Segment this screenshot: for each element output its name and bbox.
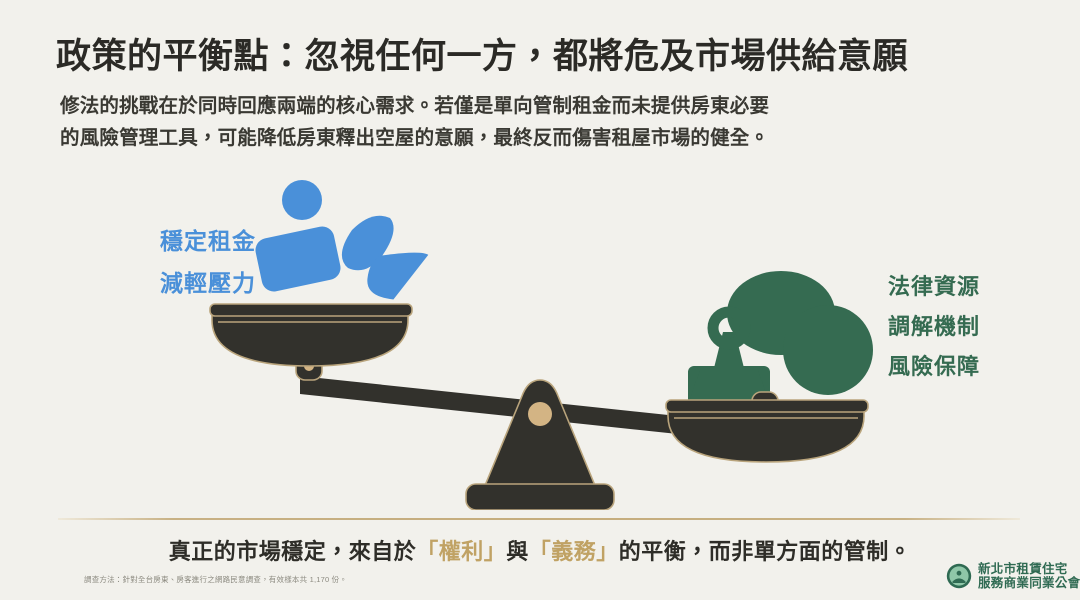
tenant-label-group: 穩定租金 減輕壓力 xyxy=(126,220,256,304)
caption-part-3: 的平衡，而非單方面的管制。 xyxy=(619,539,912,564)
caption-part-2: 與 xyxy=(506,539,529,564)
caption-highlight-rights: 「權利」 xyxy=(416,539,506,564)
page-subtitle: 修法的挑戰在於同時回應兩端的核心需求。若僅是單向管制租金而未提供房東必要 的風險… xyxy=(60,90,1015,154)
landlord-label-line-3: 風險保障 xyxy=(790,347,980,387)
landlord-label-group: 法律資源 調解機制 風險保障 xyxy=(790,267,980,387)
tenant-blue-shapes xyxy=(253,180,428,303)
tenant-label-line-2: 減輕壓力 xyxy=(126,262,256,304)
slide-root: 政策的平衡點：忽視任何一方，都將危及市場供給意願 修法的挑戰在於同時回應兩端的核… xyxy=(0,0,1080,600)
survey-footnote: 調查方法：針對全台房東、房客進行之網路民意調查，有效樣本共 1,170 份。 xyxy=(84,574,347,585)
landlord-label-line-2: 調解機制 xyxy=(790,307,980,347)
association-seal-icon xyxy=(946,563,972,589)
organization-logo: 新北市租賃住宅 服務商業同業公會 xyxy=(946,562,1080,590)
subtitle-line-1: 修法的挑戰在於同時回應兩端的核心需求。若僅是單向管制租金而未提供房東必要 xyxy=(60,90,1015,122)
scale-base xyxy=(466,484,614,510)
footer-caption: 真正的市場穩定，來自於「權利」與「義務」的平衡，而非單方面的管制。 xyxy=(0,534,1080,566)
subtitle-line-2: 的風險管理工具，可能降低房東釋出空屋的意願，最終反而傷害租屋市場的健全。 xyxy=(60,122,1015,154)
caption-highlight-duties: 「義務」 xyxy=(529,539,619,564)
organization-name: 新北市租賃住宅 服務商業同業公會 xyxy=(978,562,1080,590)
footer-divider xyxy=(58,518,1020,520)
tenant-label-line-1: 穩定租金 xyxy=(126,220,256,262)
caption-part-1: 真正的市場穩定，來自於 xyxy=(169,539,417,564)
left-pan xyxy=(210,304,412,380)
organization-name-line-1: 新北市租賃住宅 xyxy=(978,562,1080,576)
landlord-label-line-1: 法律資源 xyxy=(790,267,980,307)
organization-name-line-2: 服務商業同業公會 xyxy=(978,576,1080,590)
right-pan xyxy=(666,392,868,462)
scale-fulcrum xyxy=(484,380,596,488)
page-title: 政策的平衡點：忽視任何一方，都將危及市場供給意願 xyxy=(56,28,1036,79)
